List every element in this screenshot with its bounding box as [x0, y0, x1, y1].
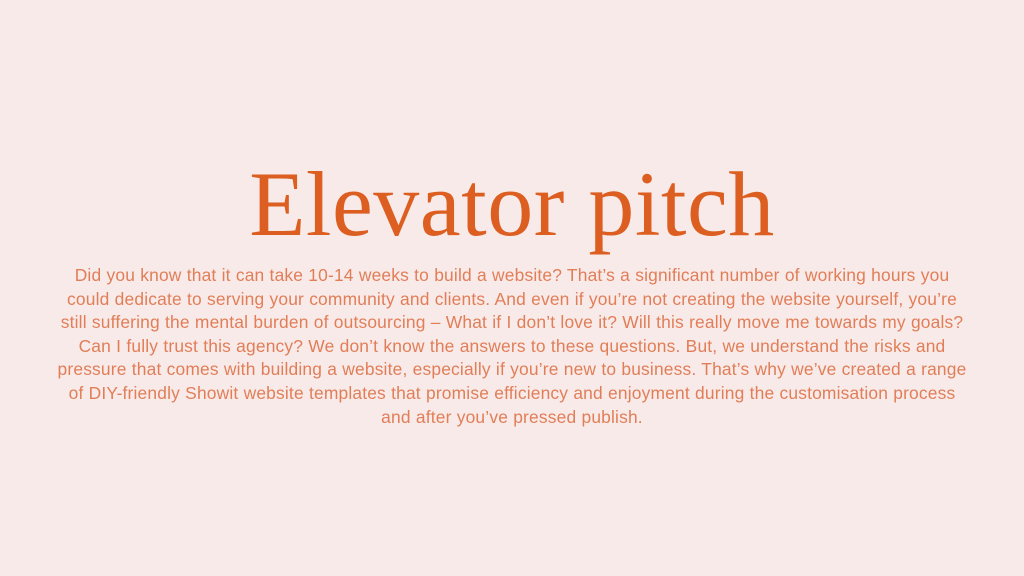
page-title: Elevator pitch — [0, 158, 1024, 250]
slide-content: Elevator pitch Did you know that it can … — [0, 0, 1024, 576]
slide-canvas: Elevator pitch Did you know that it can … — [0, 0, 1024, 576]
body-paragraph: Did you know that it can take 10-14 week… — [56, 264, 968, 429]
